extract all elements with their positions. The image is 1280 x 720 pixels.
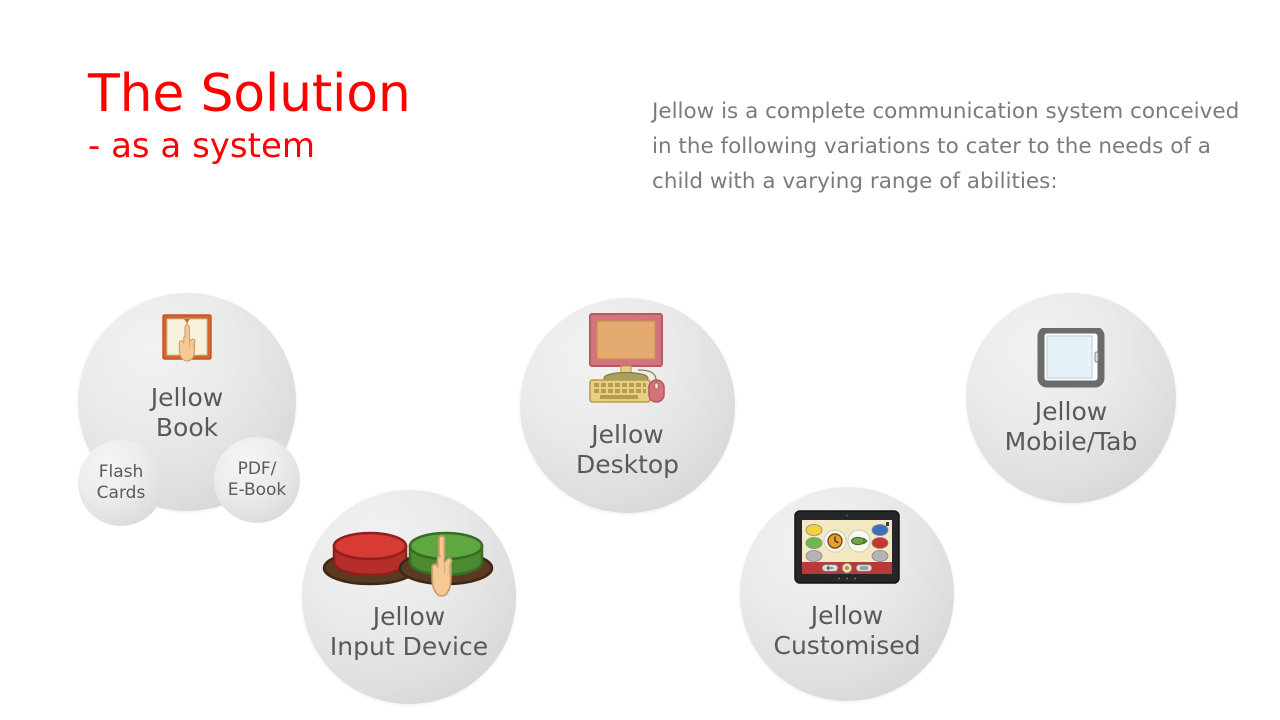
node-label-jellow-input-device: Jellow Input Device — [302, 602, 516, 662]
slide-header: The Solution - as a system — [88, 68, 608, 166]
sub-node-label-pdf-ebook: PDF/ E-Book — [228, 459, 287, 501]
open-book-with-pointing-hand-icon — [151, 309, 223, 383]
node-label-jellow-desktop: Jellow Desktop — [520, 420, 735, 480]
sub-node-flash-cards[interactable]: Flash Cards — [78, 440, 164, 526]
node-label-jellow-book: Jellow Book — [78, 383, 296, 443]
sub-node-pdf-ebook[interactable]: PDF/ E-Book — [214, 437, 300, 523]
intro-paragraph: Jellow is a complete communication syste… — [652, 94, 1264, 199]
tablet-device-icon — [1037, 328, 1105, 394]
node-label-jellow-customised: Jellow Customised — [740, 601, 954, 661]
page-title: The Solution — [88, 68, 608, 121]
customised-tablet-app-icon — [793, 509, 901, 589]
sub-node-label-flash-cards: Flash Cards — [97, 462, 146, 504]
node-label-jellow-mobile-tab: Jellow Mobile/Tab — [966, 397, 1176, 457]
node-jellow-customised[interactable]: Jellow Customised — [740, 487, 954, 701]
page-subtitle: - as a system — [88, 127, 608, 166]
desktop-computer-icon — [576, 312, 680, 408]
switch-buttons-with-hand-icon — [320, 512, 498, 608]
node-jellow-input-device[interactable]: Jellow Input Device — [302, 490, 516, 704]
node-jellow-desktop[interactable]: Jellow Desktop — [520, 298, 735, 513]
node-jellow-mobile-tab[interactable]: Jellow Mobile/Tab — [966, 293, 1176, 503]
